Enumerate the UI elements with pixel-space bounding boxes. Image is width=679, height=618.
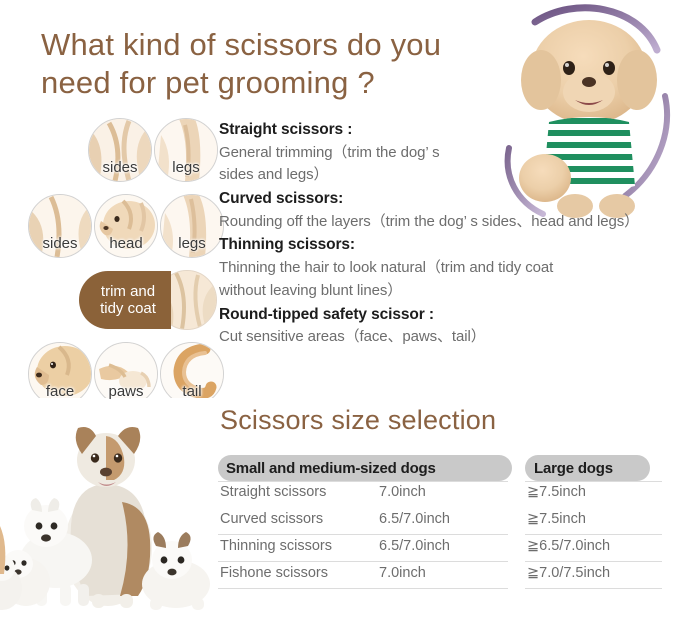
table-row: Curved scissors 6.5/7.0inch ≧7.5inch [218,508,662,535]
cell-small-size: 7.0inch [379,484,426,500]
cell-large-size: ≧7.0/7.5inch [527,565,610,581]
pill-text-line-2: tidy coat [100,300,156,317]
cell-large-size: ≧6.5/7.0inch [527,538,610,554]
dogs-group-photo [0,398,218,618]
desc-heading-curved: Curved scissors: [219,187,679,211]
desc-body-round-tipped-line-1: Cut sensitive areas（face、paws、tail） [219,326,679,349]
badge-label: sides [89,160,151,175]
cell-small-size: 6.5/7.0inch [379,511,450,527]
cell-scissor-name: Straight scissors [220,484,326,500]
desc-heading-straight: Straight scissors : [219,118,679,142]
desc-body-curved-line-1: Rounding off the layers（trim the dog’ s … [219,211,679,234]
badge-label: paws [95,384,157,399]
table-header-large: Large dogs [525,455,650,481]
cell-large-size: ≧7.5inch [527,511,586,527]
infographic-page: What kind of scissors do you need for pe… [0,0,679,618]
badge-label: legs [155,160,217,175]
scissor-descriptions: Straight scissors : General trimming（tri… [219,118,679,349]
trim-tidy-coat-pill: trim and tidy coat [79,271,171,329]
badge-label: tail [161,384,223,399]
cell-large-size: ≧7.5inch [527,484,586,500]
badge-face: face [28,342,92,406]
badge-legs: legs [154,118,218,182]
table-row: Thinning scissors 6.5/7.0inch ≧6.5/7.0in… [218,535,662,562]
badge-label: face [29,384,91,399]
badge-paws: paws [94,342,158,406]
table-header-small-medium: Small and medium-sized dogs [218,455,512,481]
badge-row-safety: face paws tail [28,342,224,406]
desc-body-thinning-line-1: Thinning the hair to look natural（trim a… [219,257,679,280]
badge-tail: tail [160,342,224,406]
table-row: Straight scissors 7.0inch ≧7.5inch [218,481,662,508]
badge-label: sides [29,236,91,251]
desc-heading-thinning: Thinning scissors: [219,233,679,257]
badge-head: head [94,194,158,258]
badge-label: legs [161,236,223,251]
desc-heading-round-tipped: Round-tipped safety scissor : [219,303,679,327]
table-row: Fishone scissors 7.0inch ≧7.0/7.5inch [218,562,662,589]
badge-column: sides legs sides [14,118,214,390]
desc-body-thinning-line-2: without leaving blunt lines） [219,280,679,303]
pill-text: trim and tidy coat [94,283,156,318]
badge-label: head [95,236,157,251]
row-rule-right [525,588,662,589]
desc-body-straight-line-2: sides and legs） [219,164,679,187]
cell-scissor-name: Fishone scissors [220,565,328,581]
page-title-line-1: What kind of scissors do you [41,26,541,64]
badge-row-straight: sides legs [88,118,218,182]
badge-sides: sides [88,118,152,182]
row-rule-left [218,588,508,589]
desc-body-straight-line-1: General trimming（trim the dog’ s [219,142,679,165]
row-rule-left [218,481,508,482]
scissors-size-table: Small and medium-sized dogs Large dogs S… [218,455,662,589]
cell-small-size: 7.0inch [379,565,426,581]
cell-scissor-name: Thinning scissors [220,538,332,554]
page-title: What kind of scissors do you need for pe… [41,26,541,102]
badge-legs: legs [160,194,224,258]
pill-text-line-1: trim and [101,283,155,300]
badge-sides: sides [28,194,92,258]
page-title-line-2: need for pet grooming ? [41,64,541,102]
table-title: Scissors size selection [220,405,496,436]
cell-small-size: 6.5/7.0inch [379,538,450,554]
badge-row-thinning: trim and tidy coat [79,270,217,330]
table-header-row: Small and medium-sized dogs Large dogs [218,455,662,481]
row-rule-right [525,481,662,482]
badge-row-curved: sides head [28,194,224,258]
cell-scissor-name: Curved scissors [220,511,323,527]
